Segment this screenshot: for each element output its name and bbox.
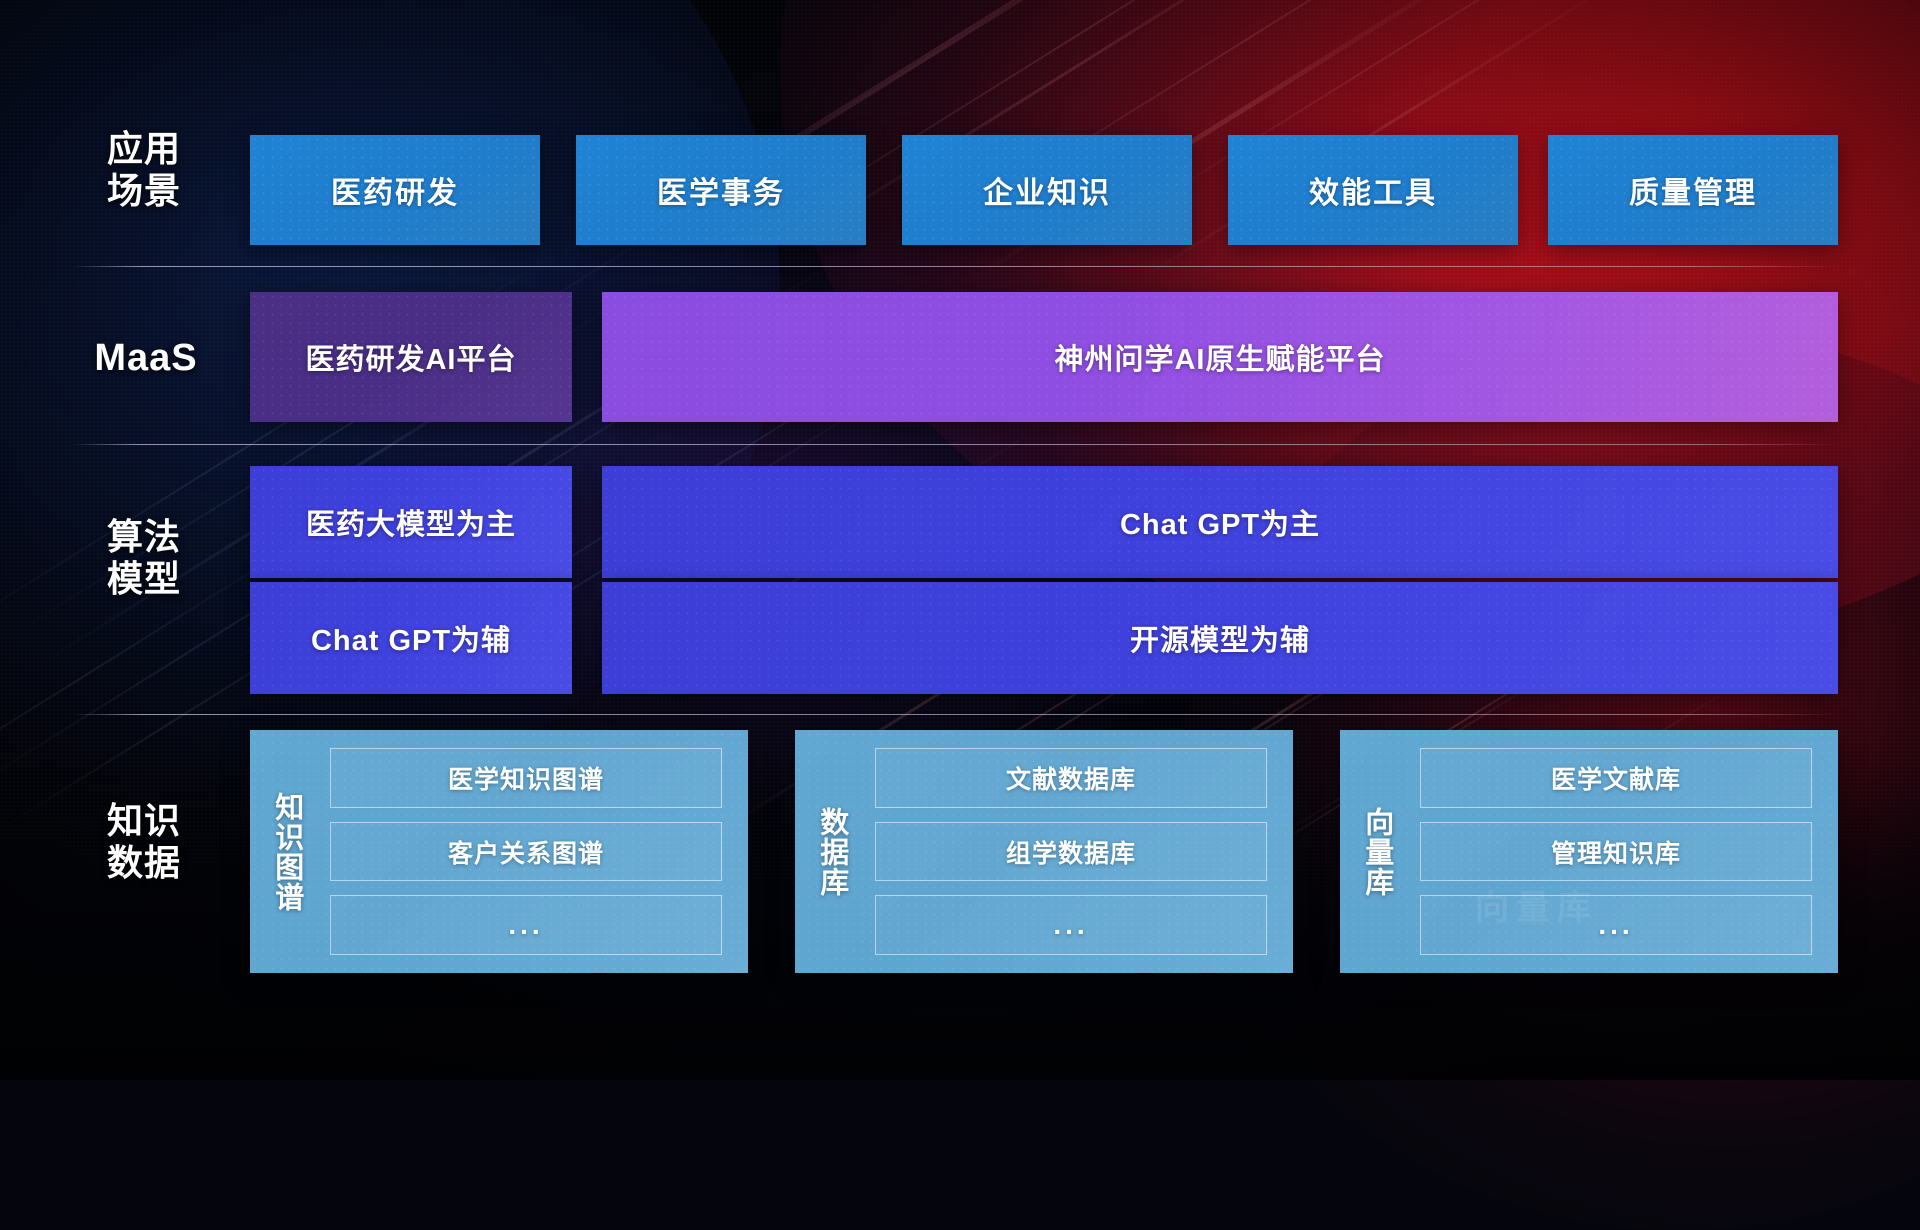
app-box-label: 医学事务 <box>657 168 785 212</box>
algo-box-chatgpt-secondary[interactable]: Chat GPT为辅 <box>250 582 572 694</box>
app-box-medical-affairs[interactable]: 医学事务 <box>576 135 866 245</box>
row-divider-2 <box>72 444 1838 445</box>
knowledge-card-items: 文献数据库 组学数据库 ... <box>867 730 1293 973</box>
maas-left-label: 医药研发AI平台 <box>305 336 516 378</box>
row-label-knowledge-data: 知识 数据 <box>78 800 210 884</box>
knowledge-item[interactable]: 管理知识库 <box>1420 822 1812 882</box>
knowledge-item-more[interactable]: ... <box>875 895 1267 955</box>
knowledge-item[interactable]: 文献数据库 <box>875 748 1267 808</box>
algo-box-label: Chat GPT为辅 <box>311 617 511 659</box>
knowledge-card-database[interactable]: 数据库 文献数据库 组学数据库 ... <box>795 730 1293 973</box>
row-label-application-scenario: 应用 场景 <box>78 128 210 212</box>
architecture-diagram: 应用 场景 医药研发 医学事务 企业知识 效能工具 质量管理 MaaS 医药研发… <box>0 0 1920 1080</box>
algo-box-label: Chat GPT为主 <box>1120 501 1320 543</box>
row-divider-3 <box>72 714 1838 715</box>
app-box-efficiency-tools[interactable]: 效能工具 <box>1228 135 1518 245</box>
knowledge-card-title: 数据库 <box>795 730 867 973</box>
watermark-text: 向量库 <box>1475 880 1598 929</box>
knowledge-item[interactable]: 组学数据库 <box>875 822 1267 882</box>
maas-platform-medicine-rd[interactable]: 医药研发AI平台 <box>250 292 572 422</box>
row-divider-1 <box>72 266 1838 267</box>
knowledge-item-more[interactable]: ... <box>330 895 722 955</box>
knowledge-item[interactable]: 客户关系图谱 <box>330 822 722 882</box>
row-label-maas: MaaS <box>72 336 220 380</box>
maas-platform-shenzhou-wenxue[interactable]: 神州问学AI原生赋能平台 <box>602 292 1838 422</box>
app-box-label: 企业知识 <box>983 168 1111 212</box>
knowledge-card-title: 知识图谱 <box>250 730 322 973</box>
app-box-medicine-rd[interactable]: 医药研发 <box>250 135 540 245</box>
knowledge-item[interactable]: 医学文献库 <box>1420 748 1812 808</box>
app-box-label: 质量管理 <box>1629 168 1757 212</box>
app-box-label: 医药研发 <box>331 168 459 212</box>
knowledge-card-items: 医学知识图谱 客户关系图谱 ... <box>322 730 748 973</box>
row-label-algorithm-model: 算法 模型 <box>78 516 210 600</box>
algo-box-chatgpt-primary[interactable]: Chat GPT为主 <box>602 466 1838 578</box>
algo-box-label: 开源模型为辅 <box>1130 617 1310 659</box>
knowledge-card-vector-store[interactable]: 向量库 医学文献库 管理知识库 ... <box>1340 730 1838 973</box>
algo-box-medicine-large-model-primary[interactable]: 医药大模型为主 <box>250 466 572 578</box>
app-box-enterprise-knowledge[interactable]: 企业知识 <box>902 135 1192 245</box>
knowledge-card-knowledge-graph[interactable]: 知识图谱 医学知识图谱 客户关系图谱 ... <box>250 730 748 973</box>
app-box-quality-management[interactable]: 质量管理 <box>1548 135 1838 245</box>
algo-box-opensource-secondary[interactable]: 开源模型为辅 <box>602 582 1838 694</box>
maas-right-label: 神州问学AI原生赋能平台 <box>1054 336 1385 378</box>
app-box-label: 效能工具 <box>1309 168 1437 212</box>
knowledge-item[interactable]: 医学知识图谱 <box>330 748 722 808</box>
algo-box-label: 医药大模型为主 <box>306 501 516 543</box>
knowledge-card-title: 向量库 <box>1340 730 1412 973</box>
knowledge-card-items: 医学文献库 管理知识库 ... <box>1412 730 1838 973</box>
